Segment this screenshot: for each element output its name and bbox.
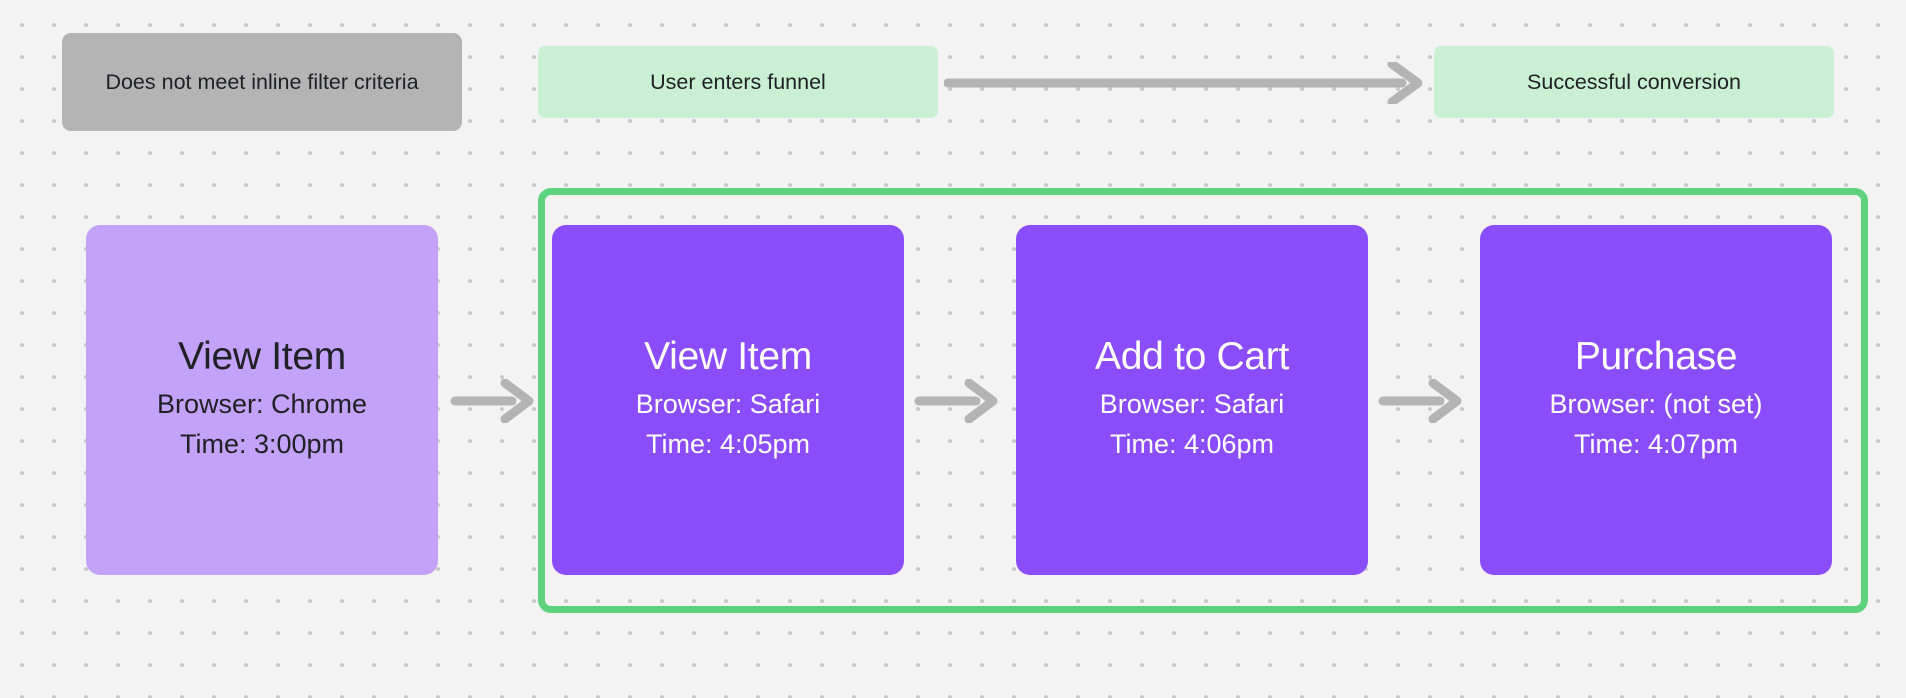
event-time: Time: 4:07pm [1574, 425, 1738, 464]
event-time: Time: 3:00pm [180, 425, 344, 464]
legend-excluded-box: Does not meet inline filter criteria [62, 33, 462, 131]
event-card-view-item-chrome[interactable]: View Item Browser: Chrome Time: 3:00pm [86, 225, 438, 575]
legend-enters-funnel-box: User enters funnel [538, 46, 938, 118]
event-title: Add to Cart [1095, 336, 1289, 378]
legend-successful-conversion-label: Successful conversion [1527, 70, 1741, 95]
event-browser: Browser: Chrome [157, 385, 367, 424]
event-card-view-item-safari[interactable]: View Item Browser: Safari Time: 4:05pm [552, 225, 904, 575]
event-card-purchase[interactable]: Purchase Browser: (not set) Time: 4:07pm [1480, 225, 1832, 575]
legend-enters-funnel-label: User enters funnel [650, 70, 826, 95]
event-card-add-to-cart[interactable]: Add to Cart Browser: Safari Time: 4:06pm [1016, 225, 1368, 575]
flow-arrow-1 [450, 379, 538, 423]
flow-arrow-2 [914, 379, 1002, 423]
event-title: Purchase [1575, 336, 1737, 378]
event-title: View Item [644, 336, 812, 378]
event-browser: Browser: Safari [636, 385, 821, 424]
event-time: Time: 4:05pm [646, 425, 810, 464]
event-time: Time: 4:06pm [1110, 425, 1274, 464]
legend-connector-arrow [944, 62, 1428, 104]
event-browser: Browser: (not set) [1549, 385, 1762, 424]
legend-successful-conversion-box: Successful conversion [1434, 46, 1834, 118]
legend-excluded-label: Does not meet inline filter criteria [105, 68, 418, 97]
event-browser: Browser: Safari [1100, 385, 1285, 424]
event-title: View Item [178, 336, 346, 378]
flow-arrow-3 [1378, 379, 1466, 423]
